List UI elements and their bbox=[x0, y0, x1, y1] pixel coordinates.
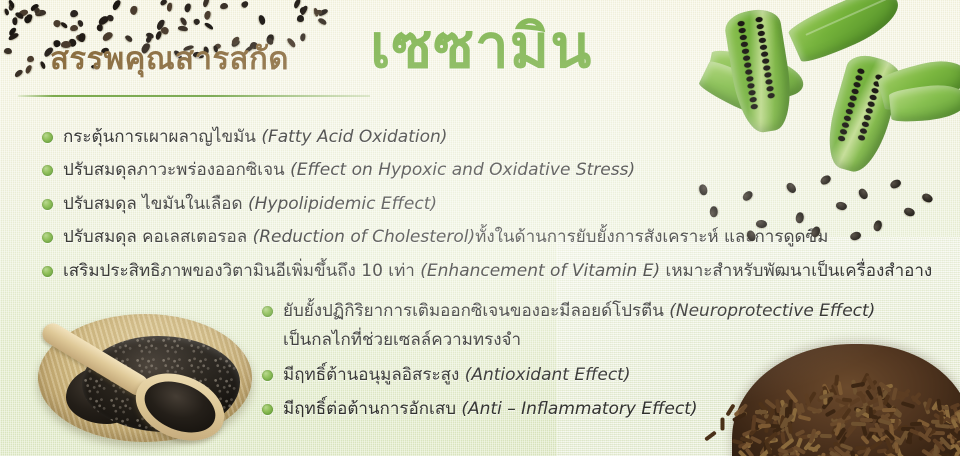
list-item-text: ปรับสมดุล ไขมันในเลือด (Hypolipidemic Ef… bbox=[63, 193, 437, 215]
rice-grain bbox=[778, 447, 794, 456]
rice-grain bbox=[741, 440, 753, 451]
bullet-dot-icon bbox=[262, 404, 273, 415]
rice-grain bbox=[894, 441, 900, 454]
list-item-text: ยับยั้งปฏิกิริยาการเติมออกซิเจนของอะมีลอ… bbox=[283, 300, 875, 352]
rice-grain bbox=[842, 451, 856, 456]
rice-grain bbox=[935, 440, 940, 453]
list-item: ปรับสมดุล คอเลสเตอรอล (Reduction of Chol… bbox=[42, 226, 947, 248]
benefit-english: (Reduction of Cholesterol) bbox=[253, 227, 476, 247]
benefit-tail: ทั้งในด้านการยับยั้งการสังเคราะห์ และการ… bbox=[475, 227, 828, 247]
rice-grain bbox=[948, 440, 960, 451]
rice-grain bbox=[788, 448, 795, 456]
rice-grain bbox=[954, 452, 960, 456]
rice-grain bbox=[956, 447, 960, 453]
benefit-thai: กระตุ้นการเผาผลาญไขมัน bbox=[63, 127, 256, 147]
rice-grain bbox=[861, 447, 872, 456]
rice-grain bbox=[759, 453, 766, 456]
rice-grain bbox=[780, 432, 786, 445]
benefits-sub-list: ยับยั้งปฏิกิริยาการเติมออกซิเจนของอะมีลอ… bbox=[262, 300, 952, 433]
rice-grain bbox=[894, 442, 900, 454]
sesame-grain-texture bbox=[82, 336, 240, 432]
rice-grain bbox=[744, 447, 754, 456]
rice-grain bbox=[931, 450, 943, 456]
rice-grain bbox=[891, 439, 900, 450]
list-item-text: ปรับสมดุล คอเลสเตอรอล (Reduction of Chol… bbox=[63, 226, 828, 248]
rice-grain bbox=[884, 447, 897, 455]
benefit-english: (Neuroprotective Effect) bbox=[669, 301, 875, 321]
rice-grain bbox=[933, 443, 938, 456]
rice-grain bbox=[763, 431, 777, 444]
rice-grain bbox=[950, 450, 958, 456]
wooden-spoon-handle bbox=[39, 319, 153, 399]
list-item: ยับยั้งปฏิกิริยาการเติมออกซิเจนของอะมีลอ… bbox=[262, 300, 952, 352]
rice-grain bbox=[789, 449, 801, 456]
list-item: มีฤทธิ์ต้านอนุมูลอิสระสูง (Antioxidant E… bbox=[262, 364, 952, 386]
benefit-english: (Enhancement of Vitamin E) bbox=[420, 261, 660, 281]
rice-grain bbox=[803, 437, 816, 451]
rice-grain bbox=[777, 447, 788, 454]
rice-grain bbox=[954, 408, 960, 417]
sesame-basket-image bbox=[18, 296, 268, 452]
benefit-second-line: เป็นกลไกที่ช่วยเซลล์ความทรงจำ bbox=[283, 329, 875, 351]
basket-weave-texture bbox=[38, 314, 252, 442]
page-title-highlight: เซซามิน bbox=[370, 17, 592, 77]
rice-grain bbox=[819, 452, 826, 456]
rice-grain bbox=[895, 445, 903, 456]
rice-grain bbox=[840, 443, 853, 451]
poster-header: สรรพคุณสารสกัด เซซามิน bbox=[0, 0, 960, 100]
spoon-seed-fill bbox=[137, 372, 223, 442]
list-item-text: มีฤทธิ์ต้านอนุมูลอิสระสูง (Antioxidant E… bbox=[283, 364, 630, 386]
rice-grain bbox=[850, 451, 855, 456]
list-item: เสริมประสิทธิภาพของวิตามินอีเพิ่มขึ้นถึง… bbox=[42, 260, 947, 282]
list-item: ปรับสมดุล ไขมันในเลือด (Hypolipidemic Ef… bbox=[42, 193, 947, 215]
rice-grain bbox=[953, 431, 959, 444]
basket-side-seed-pile bbox=[66, 366, 142, 424]
rice-grain bbox=[885, 437, 894, 451]
rice-grain bbox=[833, 452, 847, 456]
rice-grain bbox=[750, 435, 762, 444]
rice-grain bbox=[839, 432, 849, 446]
sesamin-infographic-poster: สรรพคุณสารสกัด เซซามิน กระตุ้นการเผาผลาญ… bbox=[0, 0, 960, 456]
rice-grain bbox=[955, 421, 960, 434]
benefit-thai: มีฤทธิ์ต้านอนุมูลอิสระสูง bbox=[283, 365, 459, 385]
benefit-thai: เสริมประสิทธิภาพของวิตามินอีเพิ่มขึ้นถึง… bbox=[63, 261, 415, 281]
rice-grain bbox=[933, 438, 946, 449]
list-item: กระตุ้นการเผาผลาญไขมัน (Fatty Acid Oxida… bbox=[42, 126, 947, 148]
rice-grain bbox=[871, 434, 881, 444]
rice-grain bbox=[875, 432, 888, 442]
rice-grain bbox=[793, 445, 807, 455]
bullet-dot-icon bbox=[42, 199, 53, 210]
rice-grain bbox=[758, 446, 772, 456]
rice-grain bbox=[808, 446, 819, 452]
rice-grain bbox=[932, 438, 946, 452]
header-divider bbox=[18, 95, 370, 97]
rice-grain-stray bbox=[764, 441, 772, 455]
rice-grain bbox=[951, 426, 960, 440]
rice-grain bbox=[775, 452, 789, 456]
rice-grain bbox=[763, 442, 768, 454]
rice-grain bbox=[838, 450, 851, 456]
rice-grain bbox=[880, 433, 894, 442]
rice-grain bbox=[738, 441, 752, 449]
list-item: มีฤทธิ์ต่อต้านการอักเสบ (Anti – Inflamma… bbox=[262, 398, 952, 420]
rice-grain bbox=[956, 411, 960, 426]
benefit-thai: ปรับสมดุล คอเลสเตอรอล bbox=[63, 227, 247, 247]
list-item-text: เสริมประสิทธิภาพของวิตามินอีเพิ่มขึ้นถึง… bbox=[63, 260, 932, 282]
benefit-english: (Effect on Hypoxic and Oxidative Stress) bbox=[290, 160, 635, 180]
rice-grain bbox=[759, 440, 770, 456]
bullet-dot-icon bbox=[42, 165, 53, 176]
rice-grain bbox=[954, 452, 960, 456]
wooden-spoon-bowl bbox=[126, 361, 235, 453]
rice-grain bbox=[888, 432, 903, 443]
benefit-tail: เหมาะสำหรับพัฒนาเป็นเครื่องสำอาง bbox=[666, 261, 933, 281]
rice-grain bbox=[820, 434, 832, 438]
rice-grain bbox=[947, 434, 958, 439]
rice-grain bbox=[921, 449, 935, 456]
rice-grain bbox=[833, 442, 845, 449]
rice-grain bbox=[939, 437, 952, 451]
rice-grain bbox=[952, 406, 960, 419]
benefit-english: (Antioxidant Effect) bbox=[465, 365, 631, 385]
rice-grain bbox=[825, 452, 834, 456]
rice-grain-stray bbox=[740, 436, 754, 443]
rice-grain bbox=[855, 446, 866, 451]
benefit-thai: มีฤทธิ์ต่อต้านการอักเสบ bbox=[283, 399, 456, 419]
rice-grain bbox=[828, 446, 840, 456]
black-sesame-mass bbox=[82, 336, 240, 432]
rice-grain bbox=[884, 450, 897, 456]
benefit-english: (Fatty Acid Oxidation) bbox=[261, 127, 447, 147]
list-item-text: ปรับสมดุลภาวะพร่องออกซิเจน (Effect on Hy… bbox=[63, 159, 635, 181]
rice-grain bbox=[732, 439, 743, 446]
benefit-english: (Hypolipidemic Effect) bbox=[248, 194, 437, 214]
bullet-dot-icon bbox=[42, 132, 53, 143]
woven-basket bbox=[38, 314, 252, 442]
rice-grain bbox=[951, 452, 960, 456]
rice-grain bbox=[738, 450, 751, 456]
rice-grain bbox=[908, 432, 913, 444]
rice-grain bbox=[777, 443, 788, 453]
rice-grain bbox=[950, 431, 955, 444]
rice-grain bbox=[877, 449, 888, 454]
rice-grain bbox=[861, 435, 871, 445]
list-item: ปรับสมดุลภาวะพร่องออกซิเจน (Effect on Hy… bbox=[42, 159, 947, 181]
bullet-dot-icon bbox=[262, 370, 273, 381]
rice-grain bbox=[829, 450, 840, 456]
rice-grain bbox=[745, 432, 751, 448]
rice-grain bbox=[811, 443, 822, 453]
rice-grain bbox=[765, 438, 778, 444]
rice-grain bbox=[857, 447, 870, 455]
benefit-thai: ปรับสมดุลภาวะพร่องออกซิเจน bbox=[63, 160, 285, 180]
benefit-english: (Anti – Inflammatory Effect) bbox=[461, 399, 697, 419]
rice-grain bbox=[765, 437, 776, 441]
rice-grain bbox=[837, 435, 842, 447]
benefit-thai: ปรับสมดุล ไขมันในเลือด bbox=[63, 194, 243, 214]
list-item-text: กระตุ้นการเผาผลาญไขมัน (Fatty Acid Oxida… bbox=[63, 126, 447, 148]
list-item-text: มีฤทธิ์ต่อต้านการอักเสบ (Anti – Inflamma… bbox=[283, 398, 698, 420]
bullet-dot-icon bbox=[42, 232, 53, 243]
rice-grain bbox=[955, 441, 960, 447]
bullet-dot-icon bbox=[262, 306, 273, 317]
rice-grain bbox=[807, 434, 819, 438]
rice-grain bbox=[869, 439, 883, 450]
bullet-dot-icon bbox=[42, 266, 53, 277]
rice-grain bbox=[791, 447, 798, 456]
rice-grain bbox=[798, 434, 811, 440]
benefit-thai: ยับยั้งปฏิกิริยาการเติมออกซิเจนของอะมีลอ… bbox=[283, 301, 664, 321]
rice-grain bbox=[833, 445, 846, 456]
rice-grain bbox=[954, 443, 960, 454]
page-title-thai: สรรพคุณสารสกัด bbox=[50, 33, 289, 83]
benefits-main-list: กระตุ้นการเผาผลาญไขมัน (Fatty Acid Oxida… bbox=[42, 126, 947, 293]
rice-grain bbox=[957, 420, 960, 431]
rice-grain bbox=[926, 447, 937, 456]
rice-grain bbox=[793, 437, 802, 452]
rice-grain bbox=[780, 438, 794, 450]
